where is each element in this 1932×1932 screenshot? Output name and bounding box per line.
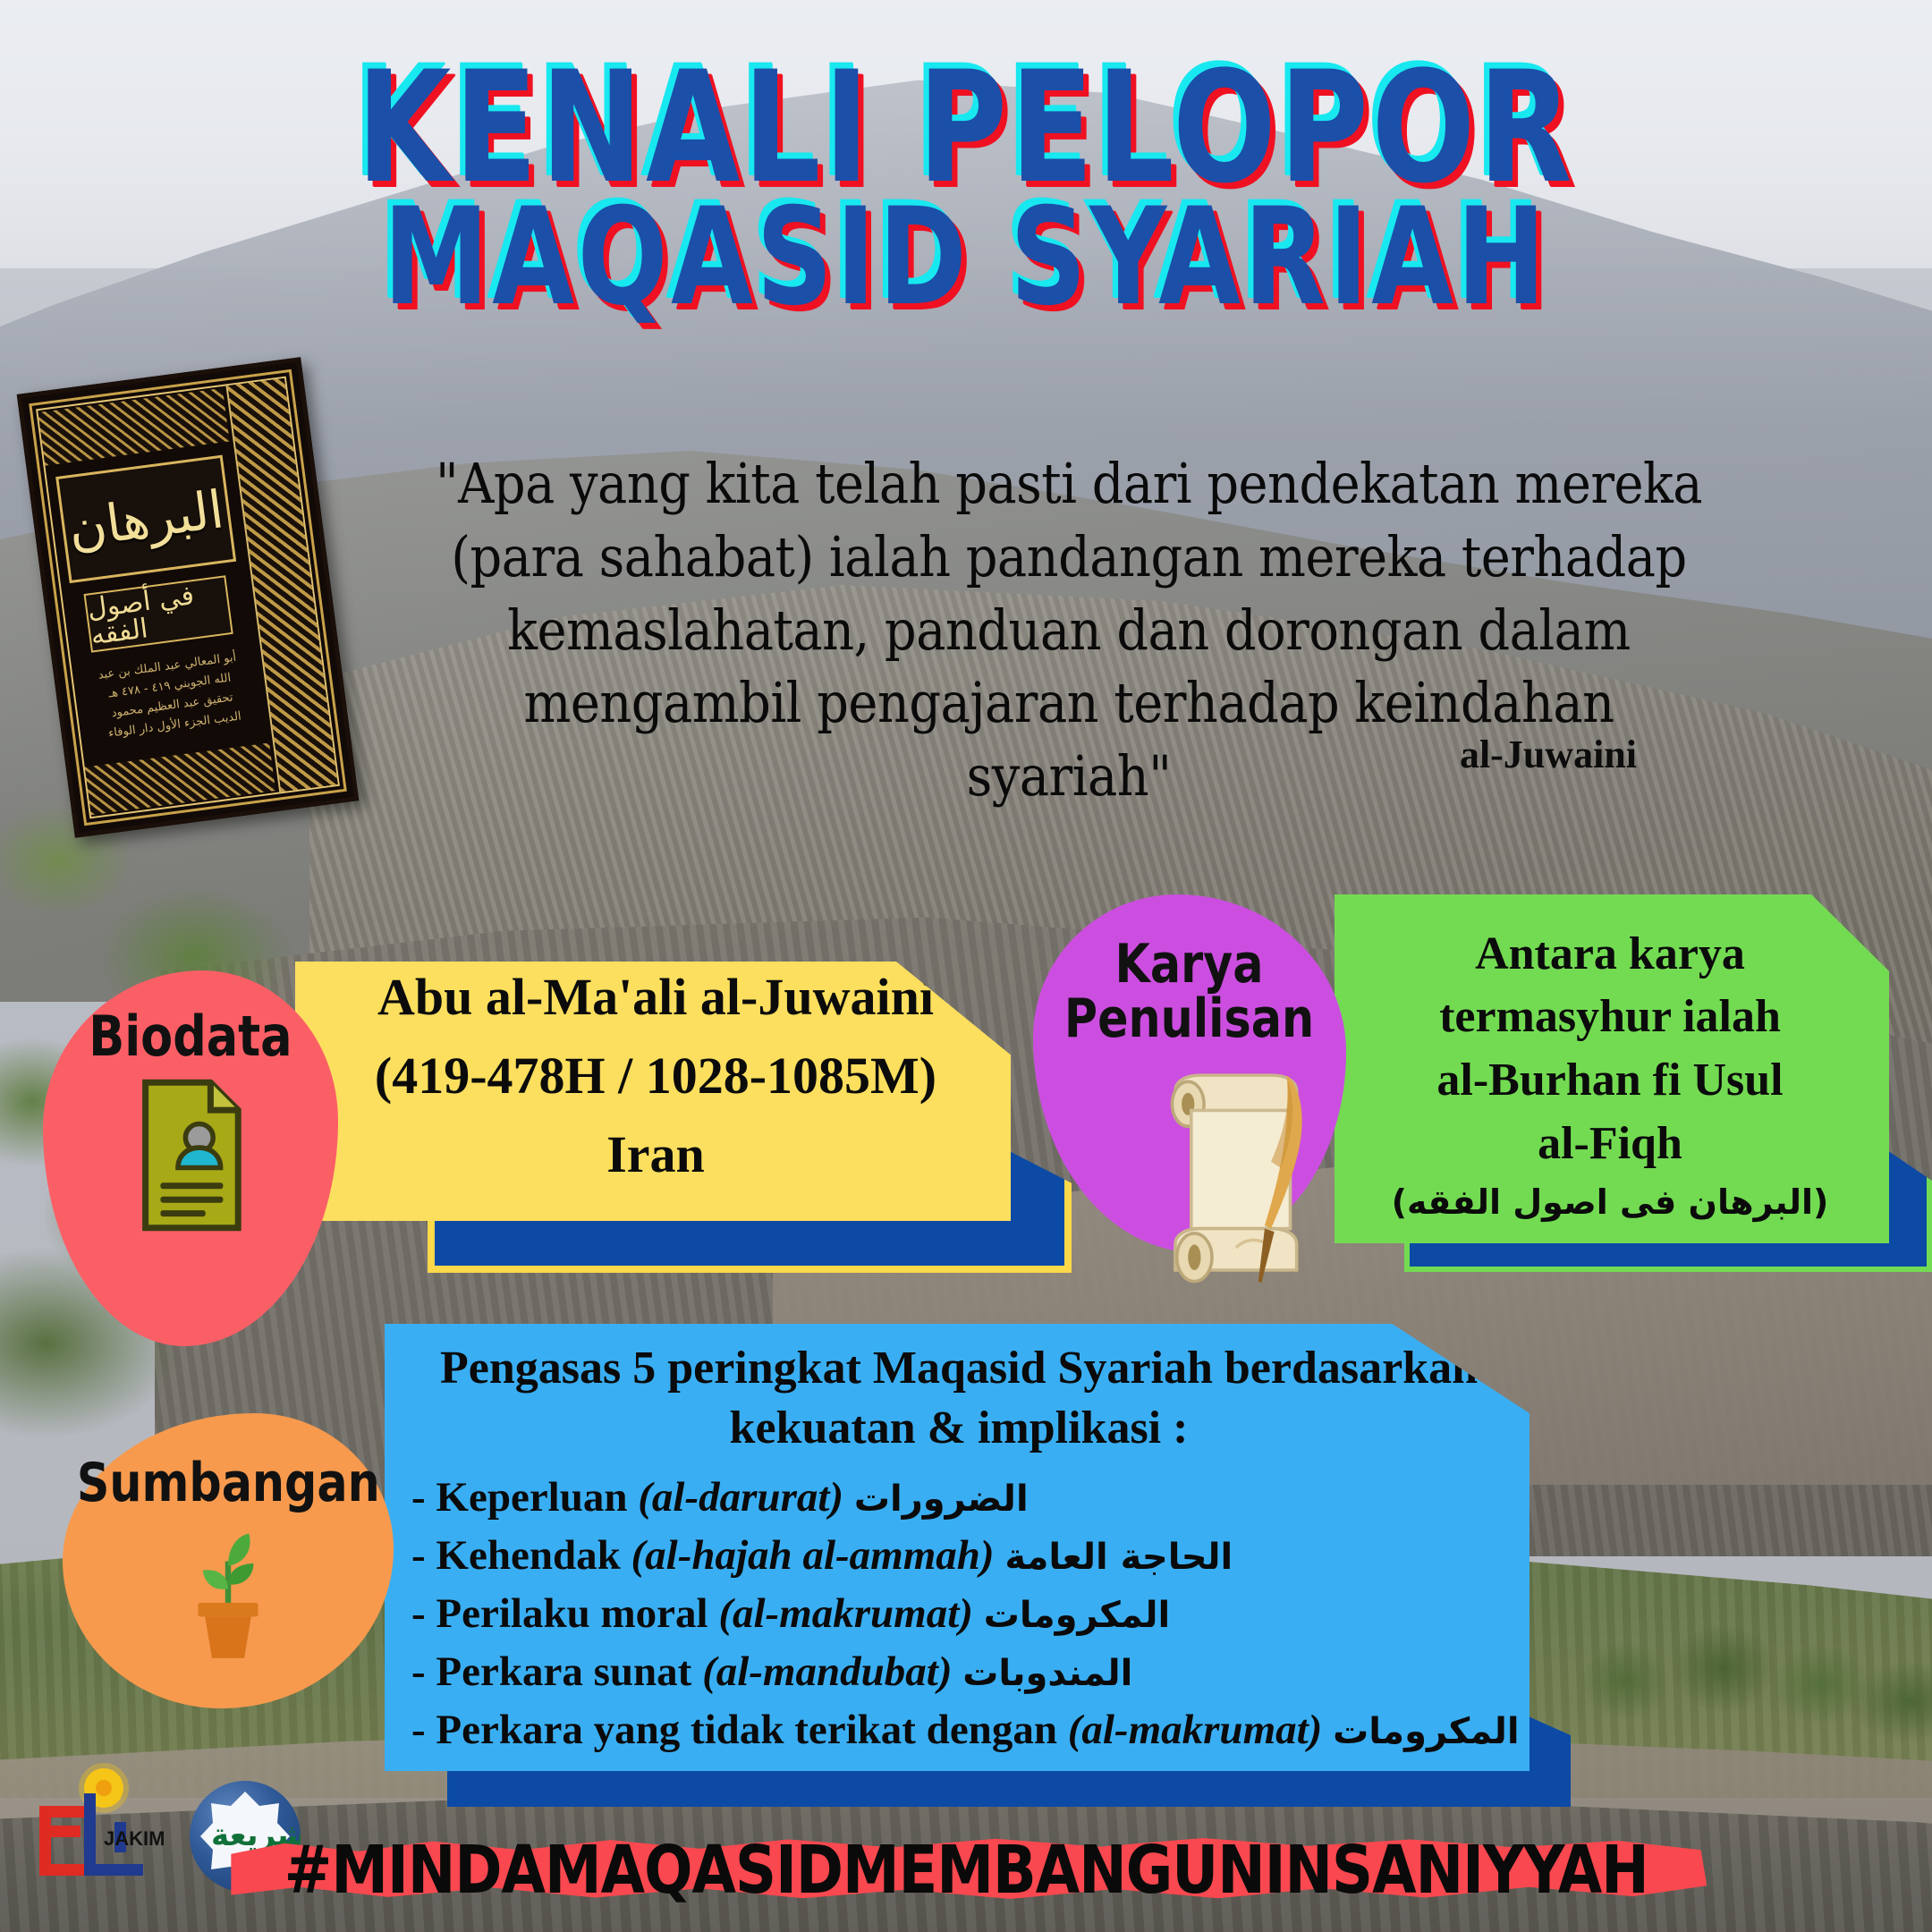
bullet: - bbox=[411, 1648, 426, 1695]
item-arabic: المندوبات bbox=[962, 1653, 1132, 1694]
banner-karya-body: Antara karya termasyhur ialah al-Burhan … bbox=[1335, 894, 1889, 1243]
item-arabic: المكرومات bbox=[984, 1595, 1171, 1636]
potted-plant-icon bbox=[170, 1520, 286, 1663]
document-person-icon bbox=[128, 1077, 253, 1233]
karya-line-3: al-Burhan fi Usul bbox=[1436, 1049, 1783, 1113]
item-text: Keperluan bbox=[436, 1474, 627, 1521]
banner-karya: Antara karya termasyhur ialah al-Burhan … bbox=[1335, 894, 1932, 1279]
karya-line-1: Antara karya bbox=[1436, 923, 1783, 987]
quote-attribution: al-Juwaini bbox=[420, 732, 1690, 777]
maqasid-levels-list: - Keperluan (al-darurat) الضرورات - Kehe… bbox=[411, 1469, 1506, 1758]
brush-highlight: #MINDAMAQASIDMEMBANGUNINSANIYYAH bbox=[225, 1826, 1707, 1914]
item-arabic: المكرومات bbox=[1333, 1711, 1520, 1752]
list-item: - Keperluan (al-darurat) الضرورات bbox=[411, 1469, 1506, 1527]
item-text: Perkara sunat bbox=[436, 1648, 691, 1695]
item-text: Perilaku moral bbox=[436, 1590, 708, 1637]
sumbangan-heading: Pengasas 5 peringkat Maqasid Syariah ber… bbox=[411, 1339, 1506, 1458]
item-roman: (al-mandubat) bbox=[702, 1648, 952, 1695]
item-arabic: الحاجة العامة bbox=[1004, 1537, 1233, 1578]
item-roman: (al-makrumat) bbox=[718, 1590, 973, 1637]
biodata-line-2: (419-478H / 1028-1085M) Iran bbox=[336, 1037, 975, 1194]
karya-label: Karya Penulisan bbox=[1064, 937, 1314, 1046]
title-line-1: KENALI PELOPOR bbox=[116, 55, 1817, 200]
banner-biodata-text: Abu al-Ma'ali al-Juwaini (419-478H / 102… bbox=[336, 958, 975, 1194]
list-item: - Kehendak (al-hajah al-ammah) الحاجة ال… bbox=[411, 1527, 1506, 1585]
book-title-arabic: البرهان bbox=[65, 483, 226, 555]
banner-biodata-body: Abu al-Ma'ali al-Juwaini (419-478H / 102… bbox=[295, 962, 1011, 1221]
bullet: - bbox=[411, 1707, 426, 1753]
page-title: KENALI PELOPOR MAQASID SYARIAH bbox=[0, 55, 1932, 321]
list-item: - Perkara sunat (al-mandubat) المندوبات bbox=[411, 1643, 1506, 1701]
karya-line-4: al-Fiqh bbox=[1436, 1113, 1783, 1176]
item-roman: (al-makrumat) bbox=[1068, 1707, 1323, 1753]
banner-sumbangan-body: Pengasas 5 peringkat Maqasid Syariah ber… bbox=[385, 1324, 1529, 1771]
banner-karya-text: Antara karya termasyhur ialah al-Burhan … bbox=[1436, 923, 1783, 1176]
bullet: - bbox=[411, 1474, 426, 1521]
bullet: - bbox=[411, 1532, 426, 1579]
book-cover-al-burhan: البرهان في أصول الفقه أبو المعالي عبد ال… bbox=[17, 357, 360, 837]
banner-biodata: Abu al-Ma'ali al-Juwaini (419-478H / 102… bbox=[295, 962, 1073, 1284]
scroll-quill-icon bbox=[1145, 1069, 1324, 1292]
item-text: Kehendak bbox=[436, 1532, 620, 1579]
karya-arabic-title: (البرهان فى اصول الفقه) bbox=[1392, 1182, 1829, 1222]
bullet: - bbox=[411, 1590, 426, 1637]
book-title-plaque: البرهان bbox=[55, 455, 236, 584]
item-roman: (al-hajah al-ammah) bbox=[631, 1532, 995, 1579]
title-line-2: MAQASID SYARIAH bbox=[116, 195, 1817, 321]
karya-line-2: termasyhur ialah bbox=[1436, 986, 1783, 1049]
infographic-poster: KENALI PELOPOR MAQASID SYARIAH البرهان ف… bbox=[0, 0, 1932, 1932]
campaign-hashtag: #MINDAMAQASIDMEMBANGUNINSANIYYAH bbox=[0, 1826, 1932, 1914]
biodata-line-1: Abu al-Ma'ali al-Juwaini bbox=[336, 958, 975, 1037]
list-item: - Perilaku moral (al-makrumat) المكرومات bbox=[411, 1585, 1506, 1643]
list-item: - Perkara yang tidak terikat dengan (al-… bbox=[411, 1701, 1506, 1759]
banner-sumbangan: Pengasas 5 peringkat Maqasid Syariah ber… bbox=[385, 1324, 1583, 1834]
item-arabic: الضرورات bbox=[854, 1479, 1029, 1520]
biodata-label: Biodata bbox=[89, 1008, 292, 1064]
item-roman: (al-darurat) bbox=[638, 1474, 843, 1521]
hashtag-text: #MINDAMAQASIDMEMBANGUNINSANIYYAH bbox=[284, 1832, 1648, 1909]
item-text: Perkara yang tidak terikat dengan bbox=[436, 1707, 1057, 1753]
sumbangan-label: Sumbangan bbox=[77, 1456, 380, 1511]
